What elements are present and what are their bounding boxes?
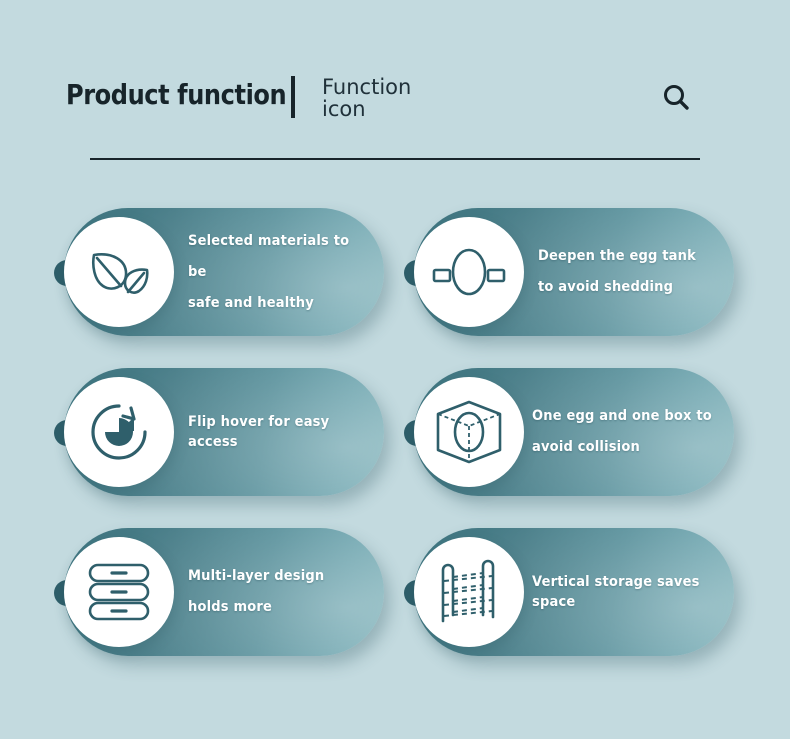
card-icon-badge [64, 377, 174, 487]
page-subtitle: Function icon [322, 76, 442, 120]
feature-card[interactable]: Deepen the egg tank to avoid shedding [404, 208, 734, 336]
card-icon-badge [414, 377, 524, 487]
card-text-line-2: holds more [188, 592, 364, 623]
card-text-line-2: to avoid shedding [538, 272, 714, 303]
card-text: Selected materials to be safe and health… [188, 208, 364, 336]
feature-card[interactable]: Vertical storage saves space [404, 528, 734, 656]
card-icon-badge [414, 537, 524, 647]
card-text: Vertical storage saves space [532, 528, 725, 656]
egg-tank-icon [431, 243, 507, 301]
card-text-line-1: Multi-layer design [188, 561, 364, 592]
card-text-line-1: Deepen the egg tank [538, 241, 714, 272]
page-header: Product function Function icon [0, 0, 790, 170]
card-text-line-1: Vertical storage saves space [532, 572, 725, 612]
card-text-line-1: One egg and one box to [532, 401, 725, 432]
card-icon-badge [414, 217, 524, 327]
title-divider [291, 76, 295, 118]
leaf-icon [88, 244, 150, 300]
page-subtitle-line-2: icon [322, 98, 442, 120]
egg-in-box-icon [433, 399, 505, 465]
card-text-line-2: safe and healthy [188, 288, 364, 319]
card-text: Multi-layer design holds more [188, 528, 364, 656]
feature-card[interactable]: Multi-layer design holds more [54, 528, 384, 656]
card-text-line-2: avoid collision [532, 432, 725, 463]
card-text: Flip hover for easy access [188, 368, 364, 496]
feature-card[interactable]: Flip hover for easy access [54, 368, 384, 496]
card-text-line-1: Selected materials to be [188, 226, 364, 288]
card-icon-badge [64, 537, 174, 647]
page-subtitle-line-1: Function [322, 76, 442, 98]
flip-rotate-icon [87, 400, 151, 464]
feature-card[interactable]: Selected materials to be safe and health… [54, 208, 384, 336]
stacked-layers-icon [86, 561, 152, 623]
search-icon[interactable] [660, 82, 694, 116]
card-icon-badge [64, 217, 174, 327]
card-text: Deepen the egg tank to avoid shedding [538, 208, 714, 336]
header-underline [90, 158, 700, 160]
feature-card[interactable]: One egg and one box to avoid collision [404, 368, 734, 496]
card-text: One egg and one box to avoid collision [532, 368, 725, 496]
vertical-rack-icon [434, 559, 504, 625]
card-text-line-1: Flip hover for easy access [188, 412, 364, 452]
page-title: Product function [66, 78, 286, 111]
